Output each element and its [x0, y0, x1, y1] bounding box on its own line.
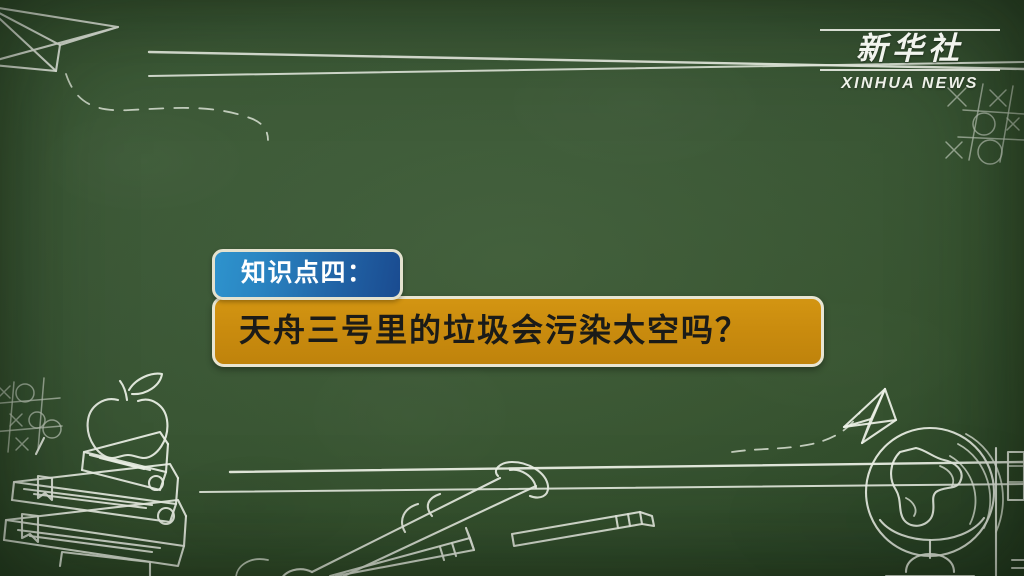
book-stack	[4, 432, 186, 576]
slide-canvas: .ck{fill:none;stroke:#eef2e8;stroke-widt…	[0, 0, 1024, 576]
dashed-trail-bottom-right	[732, 412, 860, 452]
logo-rule-bottom	[820, 69, 1000, 71]
scroll-diploma	[236, 462, 548, 576]
question-banner: 天舟三号里的垃圾会污染太空吗？	[212, 296, 824, 367]
xinhua-logo: 新华社 XINHUA NEWS	[820, 26, 1000, 93]
globe-icon	[866, 428, 1003, 576]
paper-plane-bottom-right	[844, 389, 896, 443]
double-rule-bottom	[200, 462, 1024, 492]
apple-icon	[88, 374, 168, 458]
logo-rule-top	[820, 29, 1000, 31]
logo-en-name: XINHUA NEWS	[820, 75, 1000, 93]
paper-plane-top-left	[0, 6, 118, 71]
dashed-trail-top-left	[66, 74, 268, 140]
ruler-flag-right	[996, 448, 1024, 576]
title-block: 知识点四： 天舟三号里的垃圾会污染太空吗？	[212, 249, 824, 367]
knowledge-point-badge: 知识点四：	[212, 249, 403, 300]
tic-tac-toe-top-right	[946, 84, 1024, 164]
logo-cn-name: 新华社	[820, 33, 1000, 66]
pencil-icon	[330, 512, 654, 576]
tic-tac-toe-bottom-left	[0, 378, 62, 452]
